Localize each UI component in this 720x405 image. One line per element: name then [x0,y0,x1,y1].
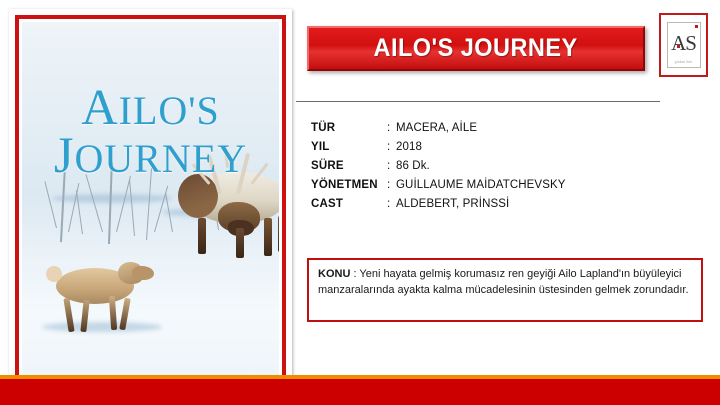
metadata-separator: : [387,160,396,172]
metadata-separator: : [387,141,396,153]
metadata-separator: : [387,122,396,134]
metadata-separator: : [387,179,396,191]
metadata-value-duration: 86 Dk. [396,160,701,172]
movie-metadata-list: TÜR : MACERA, AİLE YIL : 2018 SÜRE : 86 … [311,122,701,217]
metadata-separator: : [387,198,396,210]
metadata-row-duration: SÜRE : 86 Dk. [311,160,701,179]
movie-title-banner: AILO'S JOURNEY [307,26,645,71]
metadata-label-director: YÖNETMEN [311,179,387,191]
poster-title-line-2: JOURNEY [22,131,279,179]
adult-reindeer-leg [264,218,272,256]
synopsis-separator: : [353,268,356,280]
poster-title-line-1: AILO'S [22,83,279,131]
metadata-label-genre: TÜR [311,122,387,134]
logo-accent-dot-icon [677,45,680,48]
snow-shadow [42,322,162,332]
logo-subtitle: global link [668,60,700,64]
synopsis-text: KONU : Yeni hayata gelmiş korumasız ren … [318,267,692,298]
movie-poster[interactable]: AILO'S JOURNEY [9,9,292,394]
poster-title: AILO'S JOURNEY [22,83,279,180]
as-logo[interactable]: AS global link [659,13,708,77]
logo-monogram: AS [671,33,696,54]
metadata-row-genre: TÜR : MACERA, AİLE [311,122,701,141]
movie-info-card: AILO'S JOURNEY AILO'S JOURNEY AS global … [0,0,720,405]
adult-reindeer-leg [236,228,244,258]
metadata-row-year: YIL : 2018 [311,141,701,160]
adult-reindeer-leg [198,218,206,254]
movie-title-text: AILO'S JOURNEY [374,34,578,63]
footer-red-band [0,379,720,405]
metadata-label-year: YIL [311,141,387,153]
logo-inner-frame: AS global link [667,22,701,68]
calf-tail [46,266,62,282]
calf-head [132,266,154,280]
poster-artwork: AILO'S JOURNEY [22,22,279,381]
synopsis-box: KONU : Yeni hayata gelmiş korumasız ren … [307,258,703,322]
metadata-label-cast: CAST [311,198,387,210]
synopsis-body: Yeni hayata gelmiş korumasız ren geyiği … [318,268,689,296]
metadata-value-genre: MACERA, AİLE [396,122,701,134]
synopsis-label: KONU [318,268,350,280]
metadata-label-duration: SÜRE [311,160,387,172]
poster-inner-frame: AILO'S JOURNEY [15,15,286,388]
logo-accent-dot-icon [695,25,698,28]
snow-shadow [52,194,172,203]
metadata-row-cast: CAST : ALDEBERT, PRİNSSİ [311,198,701,217]
metadata-value-cast: ALDEBERT, PRİNSSİ [396,198,701,210]
metadata-value-director: GUİLLAUME MAİDATCHEVSKY [396,179,701,191]
metadata-value-year: 2018 [396,141,701,153]
adult-reindeer-leg [278,216,279,252]
header-divider [296,101,660,102]
metadata-row-director: YÖNETMEN : GUİLLAUME MAİDATCHEVSKY [311,179,701,198]
